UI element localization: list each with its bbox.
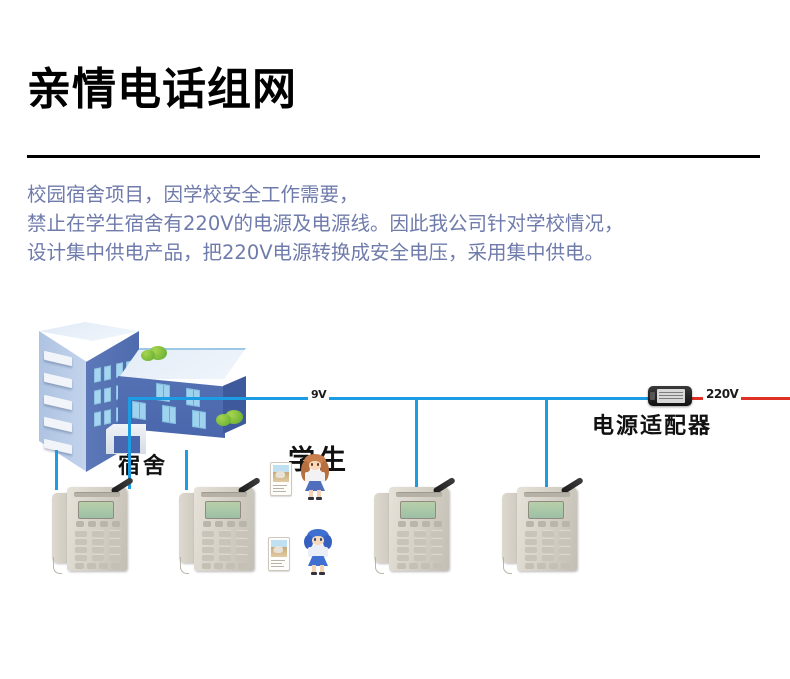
phone-cord: [180, 557, 189, 574]
desk-phone-2: [177, 485, 257, 575]
phone-keypad: [75, 530, 121, 562]
arm: [321, 472, 325, 482]
dormitory-label: 宿舍: [118, 448, 168, 480]
low-building-window: [132, 401, 146, 420]
tower-window: [104, 409, 111, 425]
title-divider: [27, 155, 760, 158]
intro-paragraph: 校园宿舍项目，因学校安全工作需要， 禁止在学生宿舍有220V的电源及电源线。因此…: [27, 180, 767, 267]
desk-phone-4: [500, 485, 580, 575]
photo-card-icon: [268, 537, 290, 571]
arm: [305, 472, 309, 482]
page-title: 亲情电话组网: [27, 66, 297, 114]
phone-lcd-screen: [78, 501, 114, 519]
phone-cord: [53, 557, 62, 574]
phone-soft-keys: [76, 521, 120, 527]
phone-soft-keys: [203, 521, 247, 527]
power-adapter-label: 电源适配器: [592, 408, 712, 440]
phone-top-slot: [396, 492, 442, 497]
phone-bottom-keys: [397, 563, 443, 569]
tower-window: [94, 367, 101, 383]
tower-window: [94, 389, 101, 405]
drop-line-phone-2: [185, 450, 188, 490]
phone-lcd-screen: [528, 501, 564, 519]
phone-cord: [503, 557, 512, 574]
tower-window: [104, 387, 111, 403]
adapter-label-plate: [657, 389, 685, 403]
drop-line-phone-3: [415, 397, 418, 489]
phone-lcd-screen: [400, 501, 436, 519]
desk-phone-3: [372, 485, 452, 575]
low-voltage-bus-line: [128, 397, 650, 400]
phone-cord: [375, 557, 384, 574]
student-avatar: [305, 530, 331, 574]
phone-top-slot: [201, 492, 247, 497]
low-building-window: [162, 405, 176, 424]
bush-icon: [216, 414, 231, 426]
voltage-label-9v: 9V: [308, 388, 329, 401]
tower-window: [94, 411, 101, 427]
phone-top-slot: [524, 492, 570, 497]
adapter-pin: [650, 392, 655, 400]
arm: [308, 547, 312, 557]
phone-bottom-keys: [75, 563, 121, 569]
drop-line-phone-1: [128, 397, 131, 489]
face: [312, 536, 324, 545]
voltage-label-220v: 220V: [703, 387, 741, 401]
student-avatar: [302, 455, 328, 499]
phone-lcd-screen: [205, 501, 241, 519]
phone-keypad: [525, 530, 571, 562]
tower-window: [104, 365, 111, 381]
phone-soft-keys: [398, 521, 442, 527]
phone-soft-keys: [526, 521, 570, 527]
phone-top-slot: [74, 492, 120, 497]
arm: [324, 547, 328, 557]
phone-keypad: [397, 530, 443, 562]
face: [309, 461, 321, 470]
network-diagram: 宿舍 学生 9V 220V 电源适配器: [0, 300, 790, 600]
power-adapter-icon: [648, 386, 692, 406]
page-root: 亲情电话组网 校园宿舍项目，因学校安全工作需要， 禁止在学生宿舍有220V的电源…: [0, 0, 790, 679]
desk-phone-1: [50, 485, 130, 575]
phone-bottom-keys: [525, 563, 571, 569]
card-photo: [271, 540, 287, 557]
bush-icon: [141, 350, 155, 361]
phone-keypad: [202, 530, 248, 562]
drop-line-phone-4: [545, 397, 548, 489]
phone-bottom-keys: [202, 563, 248, 569]
drop-line-phone-1b: [55, 450, 58, 490]
photo-card-icon: [270, 462, 292, 496]
low-building-window: [192, 410, 206, 429]
card-photo: [273, 465, 289, 482]
